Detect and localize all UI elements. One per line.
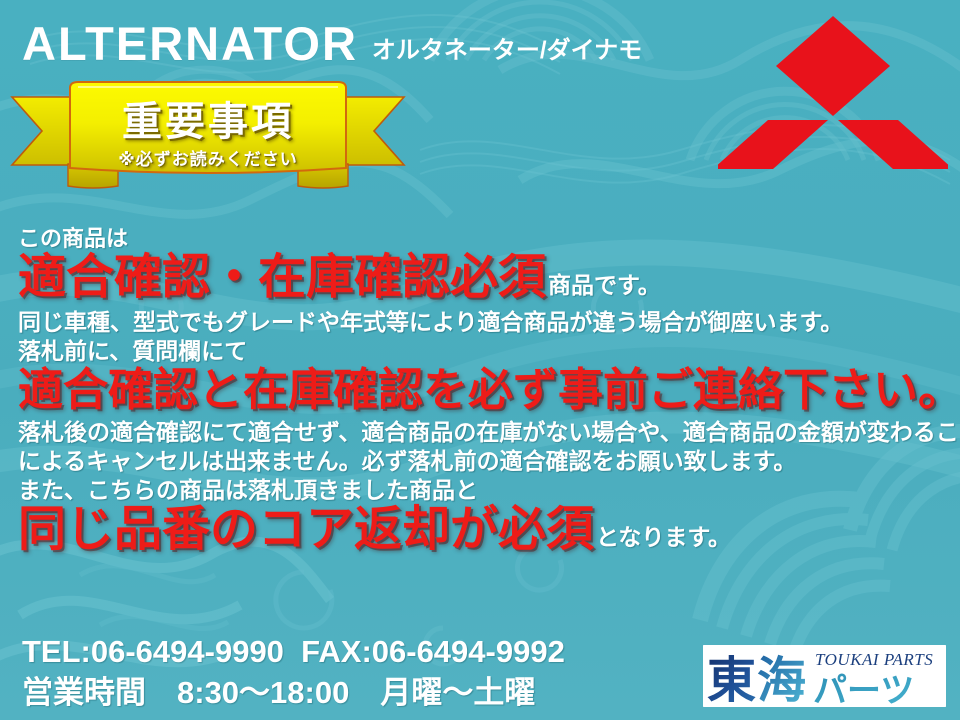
body-line-2: 適合確認・在庫確認必須 商品です。 (18, 254, 948, 302)
body-line-9-red: 同じ品番のコア返却が必須 (18, 506, 594, 554)
body-line-9: 同じ品番のコア返却が必須 となります。 (18, 506, 948, 554)
logo-katakana: パーツ (813, 671, 914, 707)
mitsubishi-logo-icon (718, 6, 948, 196)
body-line-6: 落札後の適合確認にて適合せず、適合商品の在庫がない場合や、適合商品の金額が変わる… (18, 421, 948, 444)
logo-romaji: TOUKAI PARTS (815, 650, 933, 669)
body-line-3: 同じ車種、型式でもグレードや年式等により適合商品が違う場合が御座います。 (18, 311, 948, 334)
logo-kanji-higashi: 東 (707, 652, 756, 707)
body-line-7: によるキャンセルは出来ません。必ず落札前の適合確認をお願い致します。 (18, 450, 948, 473)
body-line-5-red: 適合確認と在庫確認を必ず事前ご連絡下さい。 (18, 367, 948, 412)
footer-contact: TEL:06-6494-9990 FAX:06-6494-9992 営業時間 8… (22, 632, 565, 714)
body-line-8: また、こちらの商品は落札頂きました商品と (18, 479, 948, 502)
body-line-2-tail: 商品です。 (548, 274, 661, 297)
header-title-block: ALTERNATOR オルタネーター/ダイナモ (22, 20, 642, 67)
business-hours: 営業時間 8:30〜18:00 月曜〜土曜 (22, 673, 565, 714)
page-subtitle: オルタネーター/ダイナモ (372, 39, 642, 67)
body-line-9-tail: となります。 (596, 526, 731, 549)
body-line-4: 落札前に、質問欄にて (18, 340, 948, 363)
important-notice-ribbon: 重要事項 ※必ずお読みください (8, 78, 408, 193)
advertisement-banner: ALTERNATOR オルタネーター/ダイナモ (0, 0, 960, 720)
body-line-1: この商品は (18, 228, 948, 250)
body-line-2-red: 適合確認・在庫確認必須 (18, 254, 546, 302)
logo-kanji-umi: 海 (757, 652, 806, 707)
toukai-parts-logo: 東 海 TOUKAI PARTS パーツ (703, 645, 946, 707)
notice-body: この商品は 適合確認・在庫確認必須 商品です。 同じ車種、型式でもグレードや年式… (18, 228, 948, 554)
page-title: ALTERNATOR (22, 20, 358, 67)
contact-phone-fax: TEL:06-6494-9990 FAX:06-6494-9992 (22, 632, 565, 673)
